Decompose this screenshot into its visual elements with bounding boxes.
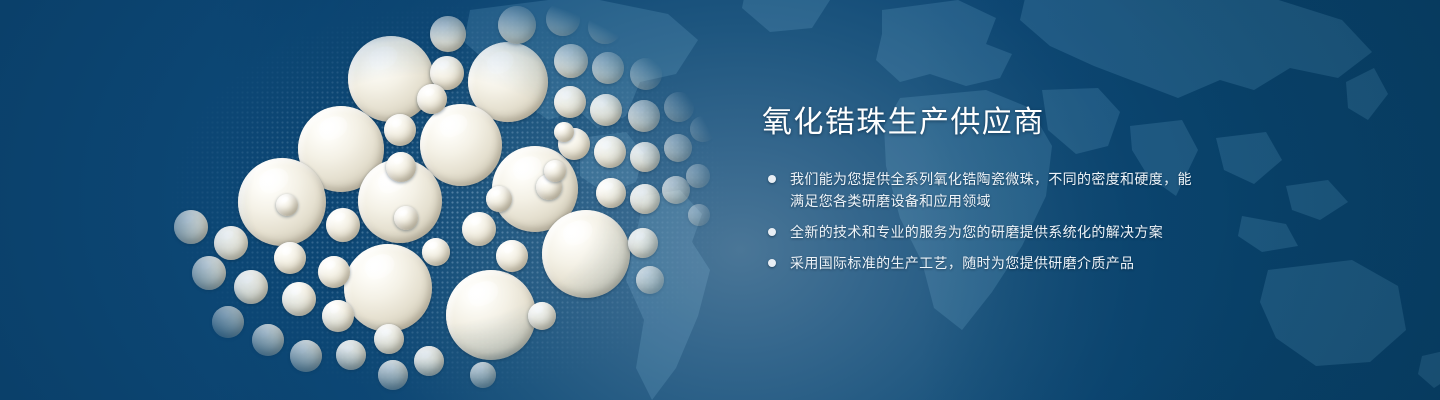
bullet-dot-icon	[768, 175, 776, 183]
bullet-item-3: 采用国际标准的生产工艺，随时为您提供研磨介质产品	[762, 252, 1194, 274]
bullet-item-1: 我们能为您提供全系列氧化锆陶瓷微珠，不同的密度和硬度，能满足您各类研磨设备和应用…	[762, 168, 1194, 212]
bullet-dot-icon	[768, 228, 776, 236]
bullet-text-3: 采用国际标准的生产工艺，随时为您提供研磨介质产品	[790, 255, 1134, 271]
banner-bullet-list: 我们能为您提供全系列氧化锆陶瓷微珠，不同的密度和硬度，能满足您各类研磨设备和应用…	[762, 168, 1322, 274]
bullet-item-2: 全新的技术和专业的服务为您的研磨提供系统化的解决方案	[762, 221, 1194, 243]
banner-copy: 氧化锆珠生产供应商 我们能为您提供全系列氧化锆陶瓷微珠，不同的密度和硬度，能满足…	[762, 104, 1322, 274]
bullet-text-2: 全新的技术和专业的服务为您的研磨提供系统化的解决方案	[790, 224, 1163, 240]
banner-headline: 氧化锆珠生产供应商	[762, 104, 1322, 142]
bullet-text-1: 我们能为您提供全系列氧化锆陶瓷微珠，不同的密度和硬度，能满足您各类研磨设备和应用…	[790, 171, 1192, 209]
hero-banner: 氧化锆珠生产供应商 我们能为您提供全系列氧化锆陶瓷微珠，不同的密度和硬度，能满足…	[0, 0, 1440, 400]
bullet-dot-icon	[768, 259, 776, 267]
